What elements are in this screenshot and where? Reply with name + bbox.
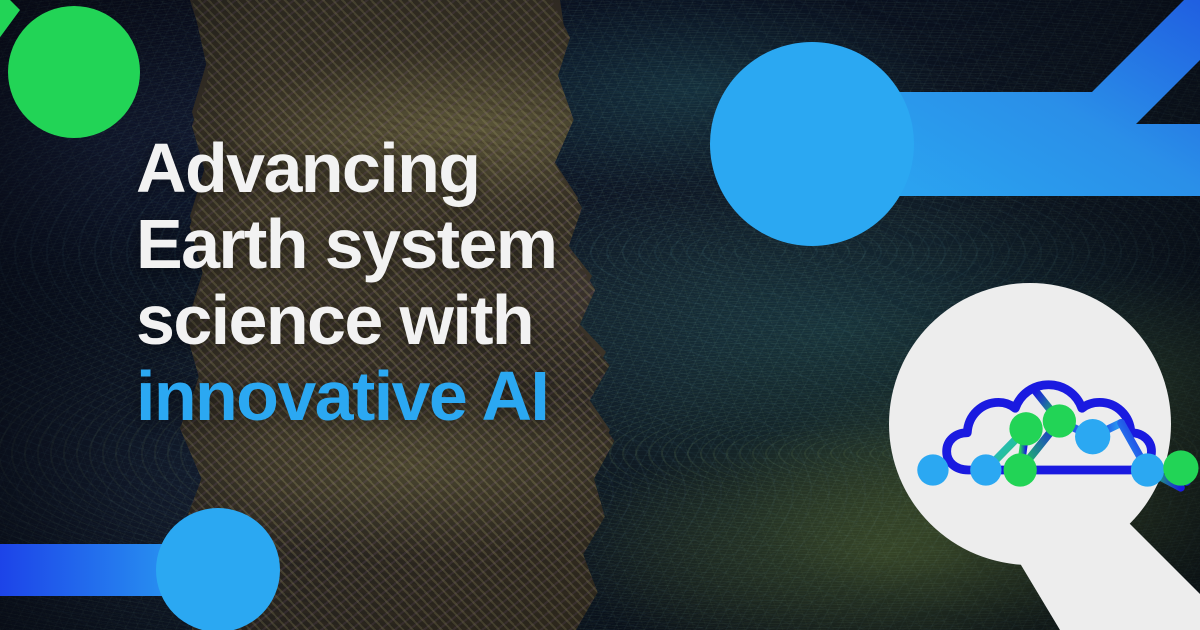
headline-line-1: Advancing — [136, 130, 756, 206]
headline: Advancing Earth system science with inno… — [136, 130, 756, 434]
headline-line-4-accent: innovative AI — [136, 358, 756, 434]
headline-line-2: Earth system — [136, 206, 756, 282]
headline-line-3: science with — [136, 282, 756, 358]
social-share-banner: Advancing Earth system science with inno… — [0, 0, 1200, 630]
